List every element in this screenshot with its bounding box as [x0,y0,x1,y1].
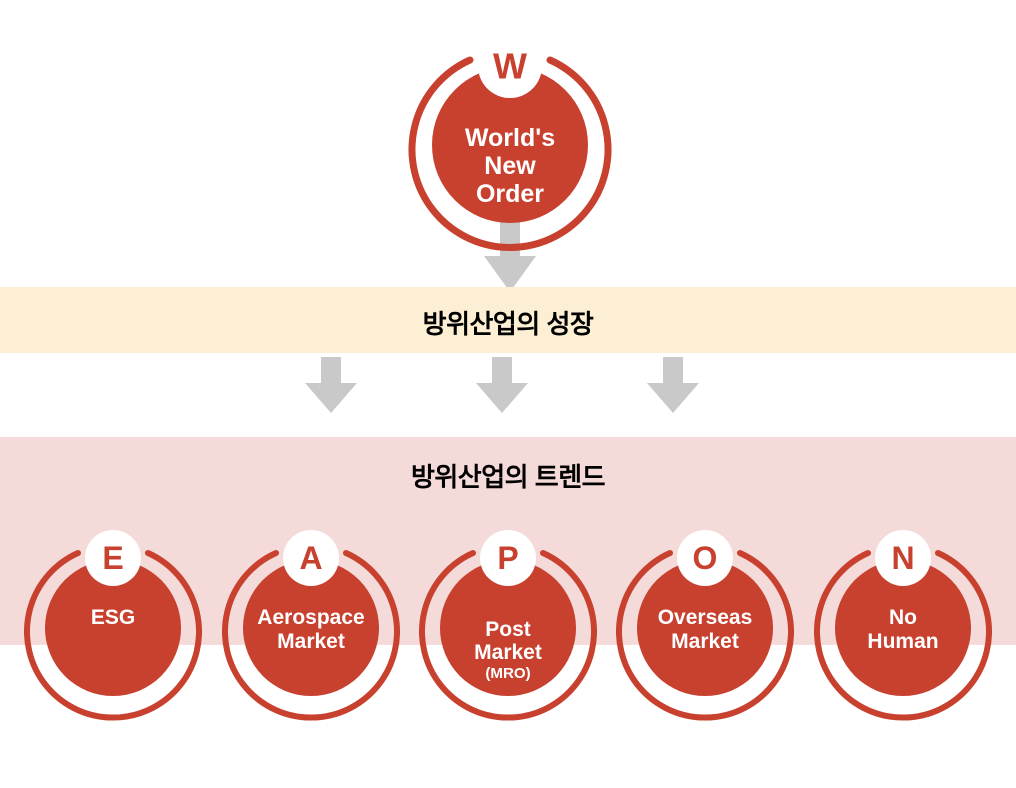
node-graphic: N [808,528,998,714]
node-graphic: E [18,528,208,714]
node-graphic: O [610,528,800,714]
badge-letter: E [102,540,123,576]
node-no-human[interactable]: N No Human [808,528,998,714]
node-post-market[interactable]: P Post Market (MRO) [413,528,603,714]
arrow-growth-to-trend-3 [647,357,699,415]
node-worlds-new-order[interactable]: W World's New Order [400,32,620,237]
badge-letter: N [891,540,914,576]
node-graphic: A [216,528,406,714]
node-overseas-market[interactable]: O Overseas Market [610,528,800,714]
node-graphic: P [413,528,603,714]
arrow-growth-to-trend-2 [476,357,528,415]
badge-letter: O [693,540,718,576]
badge-letter: P [497,540,518,576]
diagram-canvas: 방위산업의 성장 방위산업의 트렌드 W World's New Order [0,0,1016,788]
growth-band: 방위산업의 성장 [0,287,1016,353]
node-aerospace-market[interactable]: A Aerospace Market [216,528,406,714]
badge-letter: W [493,46,527,87]
node-graphic: W [400,32,620,237]
growth-band-title: 방위산업의 성장 [0,304,1016,341]
node-esg[interactable]: E ESG [18,528,208,714]
badge-letter: A [299,540,322,576]
arrow-growth-to-trend-1 [305,357,357,415]
trend-band-title: 방위산업의 트렌드 [0,457,1016,494]
